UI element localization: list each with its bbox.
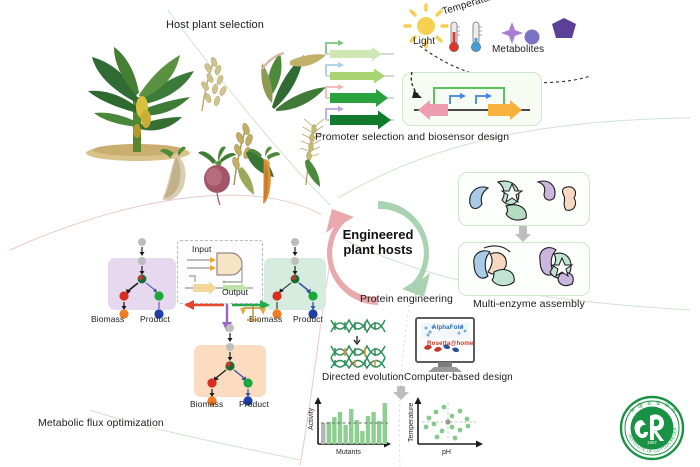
multi-enzyme-label: Multi-enzyme assembly	[473, 298, 585, 310]
logic-gate-input-label: Input	[192, 244, 211, 254]
barley-spike-icon	[300, 119, 324, 187]
svg-text:科: 科	[665, 402, 670, 409]
assembly-down-arrow	[514, 226, 532, 242]
metabolite-star-icon	[501, 22, 523, 44]
maize-leaf-icon	[261, 53, 326, 111]
scatter-xlabel: pH	[442, 449, 451, 456]
carrot-root-icon	[248, 147, 280, 204]
beetroot-icon	[198, 147, 236, 206]
promoter-construct-1	[326, 40, 394, 61]
stimulus-label-light: Light	[413, 36, 435, 47]
svg-text:业: 业	[656, 400, 661, 406]
promoter-constructs	[322, 40, 402, 126]
biosensor-construct	[404, 70, 540, 128]
thermometer-blue-icon	[471, 22, 482, 52]
thermometer-red-icon	[449, 22, 460, 52]
bar-chart-ylabel: Activity	[308, 407, 315, 430]
flux-network-bottom	[190, 322, 274, 402]
computer-design-label: Computer-based design	[404, 372, 513, 383]
promoter-section-label: Promoter selection and biosensor design	[315, 131, 509, 143]
center-title-line2: plant hosts	[332, 243, 424, 257]
bar-chart-xlabel: Mutants	[336, 449, 361, 456]
metabolite-circle-icon	[525, 30, 540, 45]
balance-scale-icon	[240, 303, 266, 323]
svg-text:学: 学	[672, 407, 677, 413]
banana-plant-icon	[86, 47, 194, 161]
protein-engineering-label: Protein engineering	[360, 293, 453, 305]
promoter-construct-3	[326, 84, 394, 107]
scatter-ylabel: Temperature	[408, 403, 415, 442]
institute-seal: 1957 INSTITUTE OF COTTON RESEARCH OF CAA…	[620, 396, 684, 460]
host-plant-label: Host plant selection	[166, 19, 264, 31]
promoter-construct-2	[326, 62, 394, 84]
chart-activity-vs-mutants: Activity Mutants	[300, 396, 396, 458]
metabolite-pentagon-icon	[552, 18, 576, 38]
promoter-construct-4	[326, 106, 394, 130]
chart-temperature-vs-ph: Temperature pH	[400, 396, 492, 458]
stimuli-icons	[404, 4, 604, 66]
directed-evolution-helices	[325, 318, 411, 370]
root-vegetable-illustrations	[140, 145, 300, 207]
scatter-center-point	[445, 419, 450, 424]
rosetta-logo-text: Rosetta@home	[427, 340, 473, 347]
seal-year: 1957	[647, 440, 657, 445]
metabolic-flux-label: Metabolic flux optimization	[38, 417, 164, 429]
svg-text:中: 中	[630, 407, 635, 414]
directed-evolution-label: Directed evolution	[322, 372, 404, 383]
assembled-enzymes	[460, 244, 586, 292]
center-title-line1: Engineered	[332, 228, 424, 242]
svg-text:农: 农	[647, 400, 652, 407]
stimulus-label-metabolites: Metabolites	[492, 44, 544, 55]
alphafold-logo-text: AlphaFold	[432, 324, 463, 331]
flux-right-product-label: Product	[293, 314, 323, 324]
flux-bottom-biomass-label: Biomass	[190, 399, 223, 409]
flux-left-biomass-label: Biomass	[91, 314, 124, 324]
svg-text:国: 国	[638, 403, 643, 409]
rice-panicle-icon	[200, 56, 228, 111]
figure-canvas: Engineered plant hosts Host plant select…	[0, 0, 700, 467]
dispersed-enzymes	[460, 174, 586, 222]
flux-bottom-product-label: Product	[239, 399, 269, 409]
parsnip-root-icon	[160, 147, 186, 201]
